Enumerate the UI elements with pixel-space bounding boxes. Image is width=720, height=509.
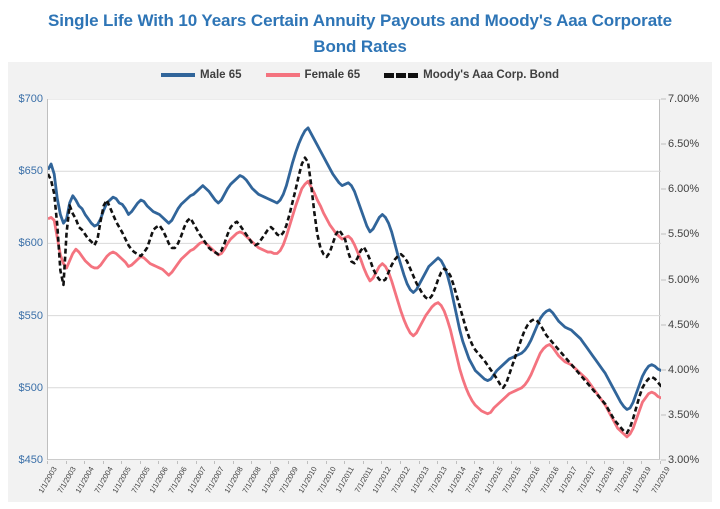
annuity-bond-chart-card: Single Life With 10 Years Certain Annuit… <box>0 0 720 509</box>
x-axis-tick-mark <box>158 461 159 464</box>
x-axis-tick-mark <box>140 461 141 464</box>
x-axis-tick-mark <box>270 461 271 464</box>
y-axis-right-tick: 7.00% <box>668 93 699 105</box>
x-axis-tick-mark <box>530 461 531 464</box>
legend-item-female-65[interactable]: Female 65 <box>266 69 361 81</box>
y-axis-right: 3.00%3.50%4.00%4.50%5.00%5.50%6.00%6.50%… <box>668 99 718 460</box>
y-axis-right-tick-mark <box>661 460 666 461</box>
legend-swatch-male-icon <box>161 73 195 77</box>
x-axis-tick-mark <box>511 461 512 464</box>
y-axis-right-tick: 3.00% <box>668 454 699 466</box>
chart-legend: Male 65 Female 65 Moody's Aaa Corp. Bond <box>8 62 712 88</box>
x-axis-tick-mark <box>381 461 382 464</box>
y-axis-right-tick: 6.50% <box>668 138 699 150</box>
x-axis-tick-mark <box>326 461 327 464</box>
x-axis-tick-mark <box>437 461 438 464</box>
plot-svg <box>48 99 661 460</box>
x-axis-tick-mark <box>474 461 475 464</box>
x-axis-tick-mark <box>363 461 364 464</box>
y-axis-right-tick-mark <box>661 189 666 190</box>
y-axis-right-tick: 4.50% <box>668 319 699 331</box>
x-axis: 1/1/20037/1/20031/1/20047/1/20041/1/2005… <box>47 461 660 509</box>
x-axis-tick-mark <box>586 461 587 464</box>
x-axis-tick-mark <box>66 461 67 464</box>
x-axis-tick-mark <box>196 461 197 464</box>
y-axis-right-tick-mark <box>661 414 666 415</box>
legend-item-moodys-bond[interactable]: Moody's Aaa Corp. Bond <box>384 69 559 81</box>
x-axis-tick-mark <box>103 461 104 464</box>
legend-label-female-65: Female 65 <box>305 69 361 81</box>
y-axis-right-tick-mark <box>661 369 666 370</box>
x-axis-tick-mark <box>456 461 457 464</box>
y-axis-right-tick-mark <box>661 324 666 325</box>
x-axis-tick-mark <box>307 461 308 464</box>
x-axis-tick-mark <box>233 461 234 464</box>
x-axis-tick-mark <box>660 461 661 464</box>
x-axis-tick-mark <box>251 461 252 464</box>
x-axis-tick-mark <box>214 461 215 464</box>
y-axis-right-tick-mark <box>661 144 666 145</box>
y-axis-left: $450$500$550$600$650$700 <box>8 99 43 460</box>
x-axis-tick-mark <box>419 461 420 464</box>
x-axis-tick-mark <box>84 461 85 464</box>
y-axis-left-tick: $600 <box>19 237 43 249</box>
y-axis-right-tick-mark <box>661 99 666 100</box>
x-axis-tick-mark <box>567 461 568 464</box>
y-axis-left-tick: $500 <box>19 382 43 394</box>
series-line-male-65 <box>48 128 661 410</box>
x-axis-tick-mark <box>177 461 178 464</box>
legend-label-moodys-bond: Moody's Aaa Corp. Bond <box>423 69 559 81</box>
y-axis-right-tick-mark <box>661 279 666 280</box>
y-axis-right-tick: 3.50% <box>668 409 699 421</box>
y-axis-right-tick: 6.00% <box>668 183 699 195</box>
legend-swatch-female-icon <box>266 73 300 77</box>
x-axis-tick-mark <box>604 461 605 464</box>
legend-label-male-65: Male 65 <box>200 69 242 81</box>
y-axis-left-tick: $450 <box>19 454 43 466</box>
y-axis-left-tick: $650 <box>19 165 43 177</box>
y-axis-right-tick-mark <box>661 234 666 235</box>
y-axis-right-tick: 4.00% <box>668 364 699 376</box>
series-line-female-65 <box>48 181 661 437</box>
x-axis-tick-mark <box>47 461 48 464</box>
legend-swatch-bond-icon <box>384 73 418 78</box>
x-axis-tick-mark <box>400 461 401 464</box>
page-title: Single Life With 10 Years Certain Annuit… <box>40 8 680 60</box>
y-axis-left-tick: $550 <box>19 310 43 322</box>
x-axis-tick-mark <box>344 461 345 464</box>
x-axis-tick-mark <box>549 461 550 464</box>
x-axis-tick-mark <box>121 461 122 464</box>
y-axis-right-tick: 5.50% <box>668 228 699 240</box>
x-axis-tick-mark <box>493 461 494 464</box>
x-axis-tick-mark <box>641 461 642 464</box>
x-axis-tick-mark <box>623 461 624 464</box>
y-axis-right-tick: 5.00% <box>668 274 699 286</box>
y-axis-left-tick: $700 <box>19 93 43 105</box>
legend-item-male-65[interactable]: Male 65 <box>161 69 242 81</box>
series-line-moody-s-aaa-corp-bond <box>48 158 661 433</box>
plot-area <box>47 99 660 460</box>
x-axis-tick-mark <box>288 461 289 464</box>
